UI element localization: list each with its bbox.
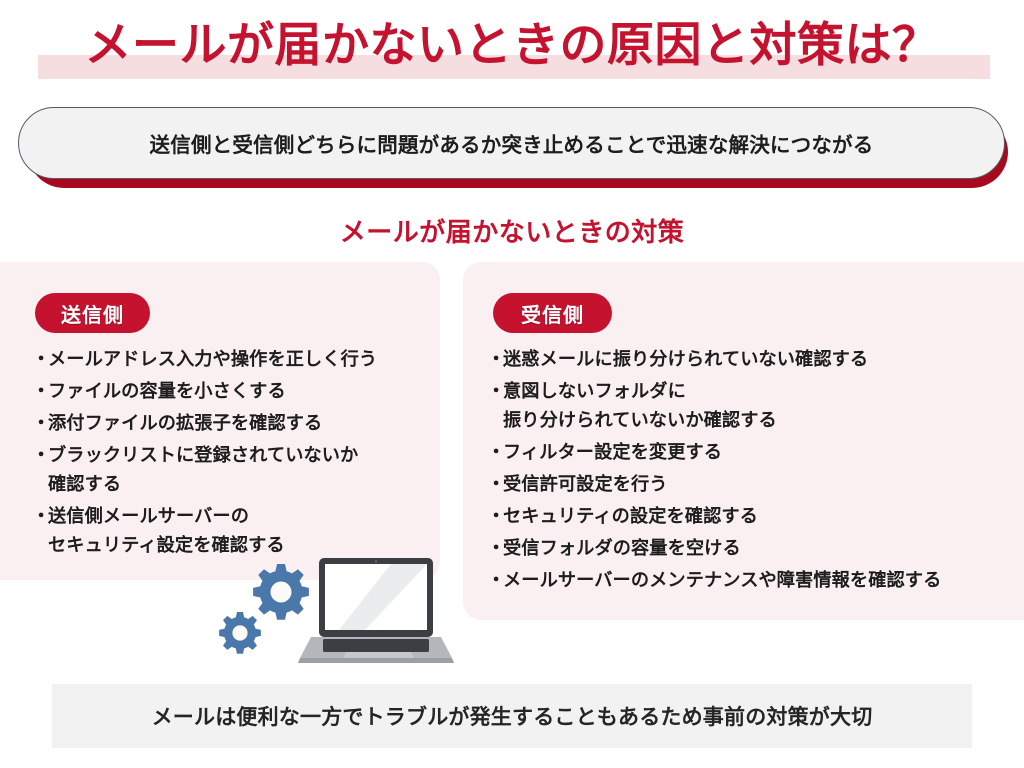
bullet-icon: ・ xyxy=(32,345,48,374)
subtitle-text: 送信側と受信側どちらに問題があるか突き止めることで迅速な解決につながる xyxy=(150,128,874,158)
list-item-label: セキュリティの設定を確認する xyxy=(503,502,1017,531)
bullet-icon: ・ xyxy=(487,566,503,595)
list-item: ・意図しないフォルダに 振り分けられていないか確認する xyxy=(487,377,1017,435)
laptop-trackpad xyxy=(343,652,414,658)
list-item: ・添付ファイルの拡張子を確認する xyxy=(32,409,432,438)
page-title: メールが届かないときの原因と対策は？ xyxy=(0,12,1024,78)
bullet-icon: ・ xyxy=(32,377,48,406)
bullet-icon: ・ xyxy=(487,470,503,499)
bullet-icon: ・ xyxy=(32,502,48,560)
title-block: メールが届かないときの原因と対策は？ xyxy=(0,12,1024,84)
list-item: ・メールアドレス入力や操作を正しく行う xyxy=(32,345,432,374)
laptop-front-edge xyxy=(298,658,454,663)
section-heading: メールが届かないときの対策 xyxy=(0,212,1024,249)
bullet-icon: ・ xyxy=(487,438,503,467)
bottom-banner: メールは便利な一方でトラブルが発生することもあるため事前の対策が大切 xyxy=(52,684,972,748)
gear-small-hub xyxy=(232,625,247,640)
list-item-label: 添付ファイルの拡張子を確認する xyxy=(48,409,432,438)
list-item-label: メールアドレス入力や操作を正しく行う xyxy=(48,345,432,374)
list-item: ・メールサーバーのメンテナンスや障害情報を確認する xyxy=(487,566,1017,595)
bullet-icon: ・ xyxy=(32,441,48,499)
list-item: ・受信許可設定を行う xyxy=(487,470,1017,499)
bullet-icon: ・ xyxy=(487,345,503,374)
bullet-icon: ・ xyxy=(487,502,503,531)
sender-measures-list: ・メールアドレス入力や操作を正しく行う ・ファイルの容量を小さくする ・添付ファ… xyxy=(32,345,432,563)
list-item-label: 受信フォルダの容量を空ける xyxy=(503,534,1017,563)
bullet-icon: ・ xyxy=(487,377,503,435)
list-item-label: ファイルの容量を小さくする xyxy=(48,377,432,406)
list-item-label: メールサーバーのメンテナンスや障害情報を確認する xyxy=(503,566,1017,595)
list-item: ・受信フォルダの容量を空ける xyxy=(487,534,1017,563)
list-item: ・フィルター設定を変更する xyxy=(487,438,1017,467)
laptop-camera-icon xyxy=(375,560,377,562)
list-item: ・ブラックリストに登録されていないか 確認する xyxy=(32,441,432,499)
subtitle-pill: 送信側と受信側どちらに問題があるか突き止めることで迅速な解決につながる xyxy=(18,107,1005,179)
list-item-label: 迷惑メールに振り分けられていない確認する xyxy=(503,345,1017,374)
bullet-icon: ・ xyxy=(487,534,503,563)
gear-large-hub xyxy=(271,582,292,603)
list-item: ・セキュリティの設定を確認する xyxy=(487,502,1017,531)
infographic-canvas: メールが届かないときの原因と対策は？ 送信側と受信側どちらに問題があるか突き止め… xyxy=(0,0,1024,768)
list-item-label: 受信許可設定を行う xyxy=(503,470,1017,499)
bottom-banner-text: メールは便利な一方でトラブルが発生することもあるため事前の対策が大切 xyxy=(152,701,873,731)
laptop-keyboard xyxy=(323,639,429,652)
list-item: ・迷惑メールに振り分けられていない確認する xyxy=(487,345,1017,374)
receiver-measures-list: ・迷惑メールに振り分けられていない確認する ・意図しないフォルダに 振り分けられ… xyxy=(487,345,1017,598)
gears-laptop-illustration xyxy=(215,552,455,672)
badge-sender: 送信側 xyxy=(35,293,150,333)
laptop-icon xyxy=(298,558,454,663)
list-item: ・ファイルの容量を小さくする xyxy=(32,377,432,406)
list-item-label: 意図しないフォルダに 振り分けられていないか確認する xyxy=(503,377,1017,435)
bullet-icon: ・ xyxy=(32,409,48,438)
list-item-label: フィルター設定を変更する xyxy=(503,438,1017,467)
list-item-label: ブラックリストに登録されていないか 確認する xyxy=(48,441,432,499)
badge-receiver: 受信側 xyxy=(493,293,612,333)
